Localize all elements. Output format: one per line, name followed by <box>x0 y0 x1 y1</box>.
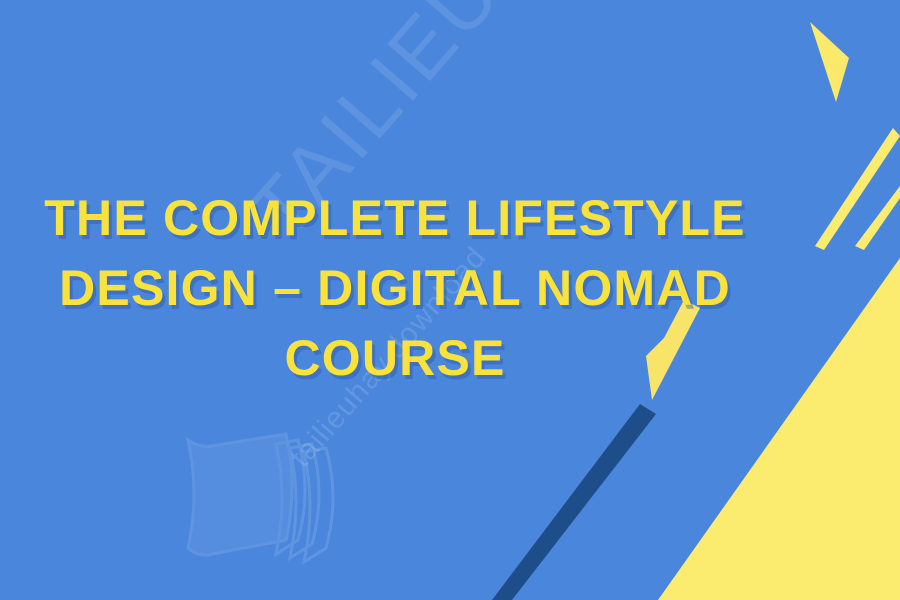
title-line-1: THE COMPLETE LIFESTYLE <box>0 183 790 253</box>
yellow-streak-lower <box>855 186 900 250</box>
course-banner: TAILIEUHAY tailieuhay.download THE COMPL… <box>0 0 900 600</box>
yellow-streak-upper <box>815 128 900 250</box>
navy-diagonal-bar <box>492 404 656 600</box>
yellow-arrow-triangle <box>810 22 849 102</box>
title-line-3: COURSE <box>0 323 790 393</box>
title-line-2: DESIGN – DIGITAL NOMAD <box>0 253 790 323</box>
stacked-book-pages-logo-icon <box>176 418 376 600</box>
banner-title: THE COMPLETE LIFESTYLE DESIGN – DIGITAL … <box>0 183 790 393</box>
